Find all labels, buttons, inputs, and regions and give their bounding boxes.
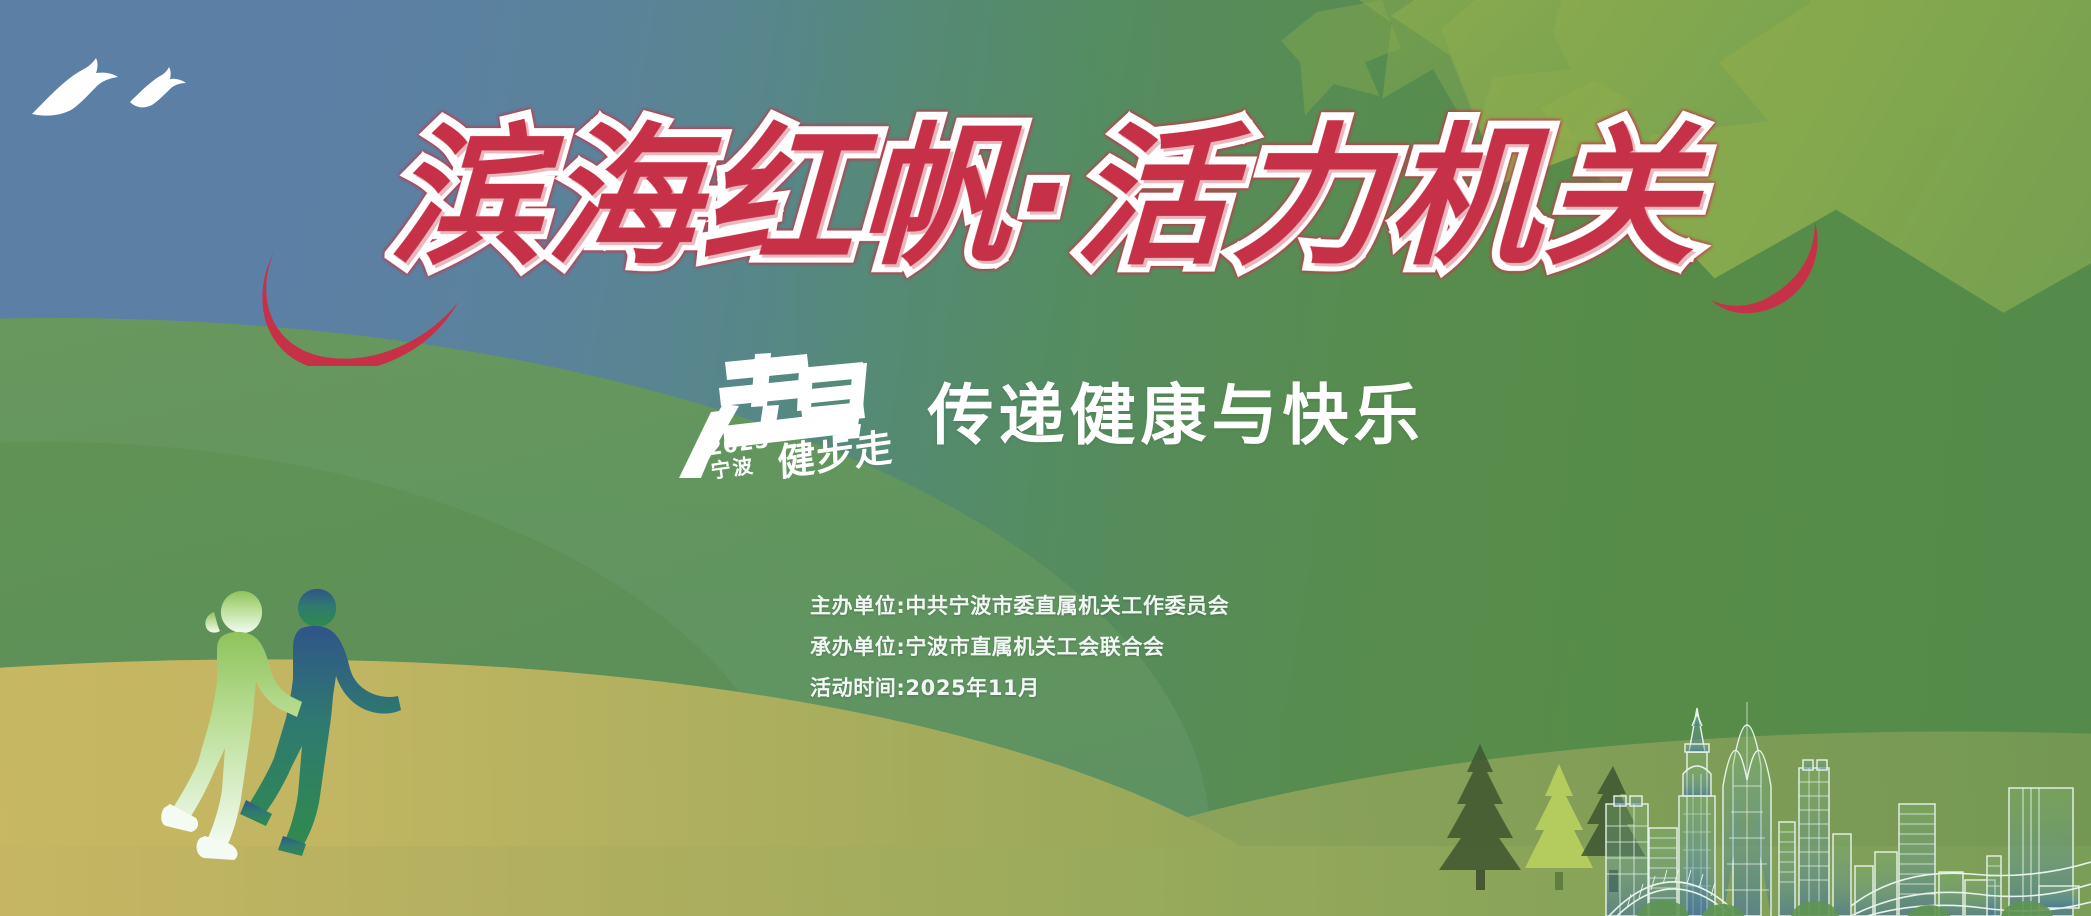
female-walker-silhouette (161, 591, 302, 860)
city-skyline-lineart (1606, 702, 2079, 916)
credits-block: 主办单位:中共宁波市委直属机关工作委员会 承办单位:宁波市直属机关工会联合会 活… (810, 586, 1229, 709)
credit-organizer: 主办单位:中共宁波市委直属机关工作委员会 (810, 586, 1229, 627)
tagline: 传递健康与快乐 (928, 383, 1425, 449)
logo-year-city: 2025 宁波 (706, 430, 774, 481)
event-logo: 2025 宁波 健步走 (667, 348, 882, 483)
male-walker-silhouette (240, 589, 401, 856)
logo-tagline-row: 2025 宁波 健步走 传递健康与快乐 (0, 348, 2091, 483)
brush-stroke-4 (1281, 0, 1401, 120)
walking-figures-group (150, 586, 420, 886)
poster-canvas: 滨海红帆·活力机关 (0, 0, 2091, 916)
credit-host: 承办单位:宁波市直属机关工会联合会 (810, 627, 1229, 668)
pine-tree-light-center (1525, 764, 1593, 890)
scenery-group (1431, 656, 2091, 916)
pine-tree-dark-left (1439, 744, 1521, 890)
credit-date: 活动时间:2025年11月 (810, 668, 1229, 709)
seagull-icon-group (30, 28, 190, 138)
brush-stroke-group (1241, 0, 2091, 380)
